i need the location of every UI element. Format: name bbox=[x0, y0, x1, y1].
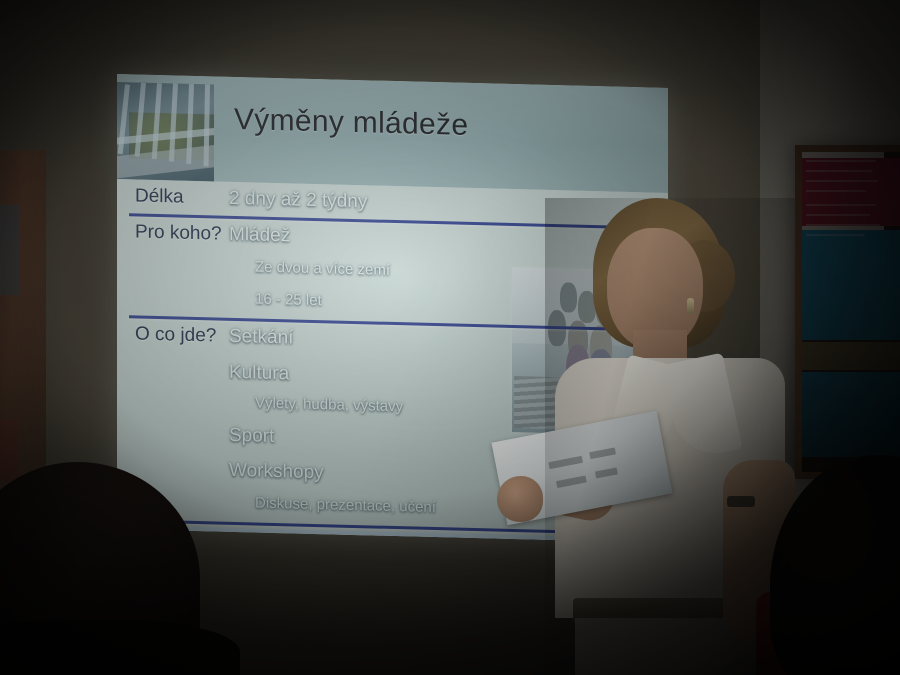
presenter-earring bbox=[687, 298, 694, 314]
notice-board-shadow bbox=[802, 152, 900, 472]
row-value: Workshopy bbox=[229, 460, 324, 484]
row-value: 16 - 25 let bbox=[255, 290, 322, 309]
door-panel-upper bbox=[0, 205, 20, 295]
presenter-wristwatch bbox=[727, 496, 755, 507]
row-value: Sport bbox=[229, 425, 274, 448]
presenter-hand-left bbox=[497, 476, 543, 522]
bridge-railing-photo bbox=[117, 82, 214, 181]
row-value: Diskuse, prezentace, učení bbox=[255, 494, 436, 516]
slide-title: Výměny mládeže bbox=[234, 103, 468, 143]
row-value: Ze dvou a více zemí bbox=[255, 258, 390, 278]
row-value: Mládež bbox=[229, 224, 290, 248]
notice-board bbox=[795, 145, 900, 479]
photo-scene: Výměny mládeže bbox=[0, 0, 900, 675]
slide-header-band: Výměny mládeže bbox=[117, 74, 668, 193]
row-value: 2 dny až 2 týdny bbox=[229, 188, 367, 214]
row-label: O co jde? bbox=[135, 323, 216, 347]
row-value: Výlety, hudba, výstavy bbox=[255, 394, 403, 415]
row-value: Setkání bbox=[229, 326, 293, 350]
row-label: Délka bbox=[135, 185, 184, 208]
row-label: Pro koho? bbox=[135, 221, 222, 245]
row-value: Kultura bbox=[229, 362, 289, 386]
audience-shoulders-left bbox=[0, 620, 240, 675]
